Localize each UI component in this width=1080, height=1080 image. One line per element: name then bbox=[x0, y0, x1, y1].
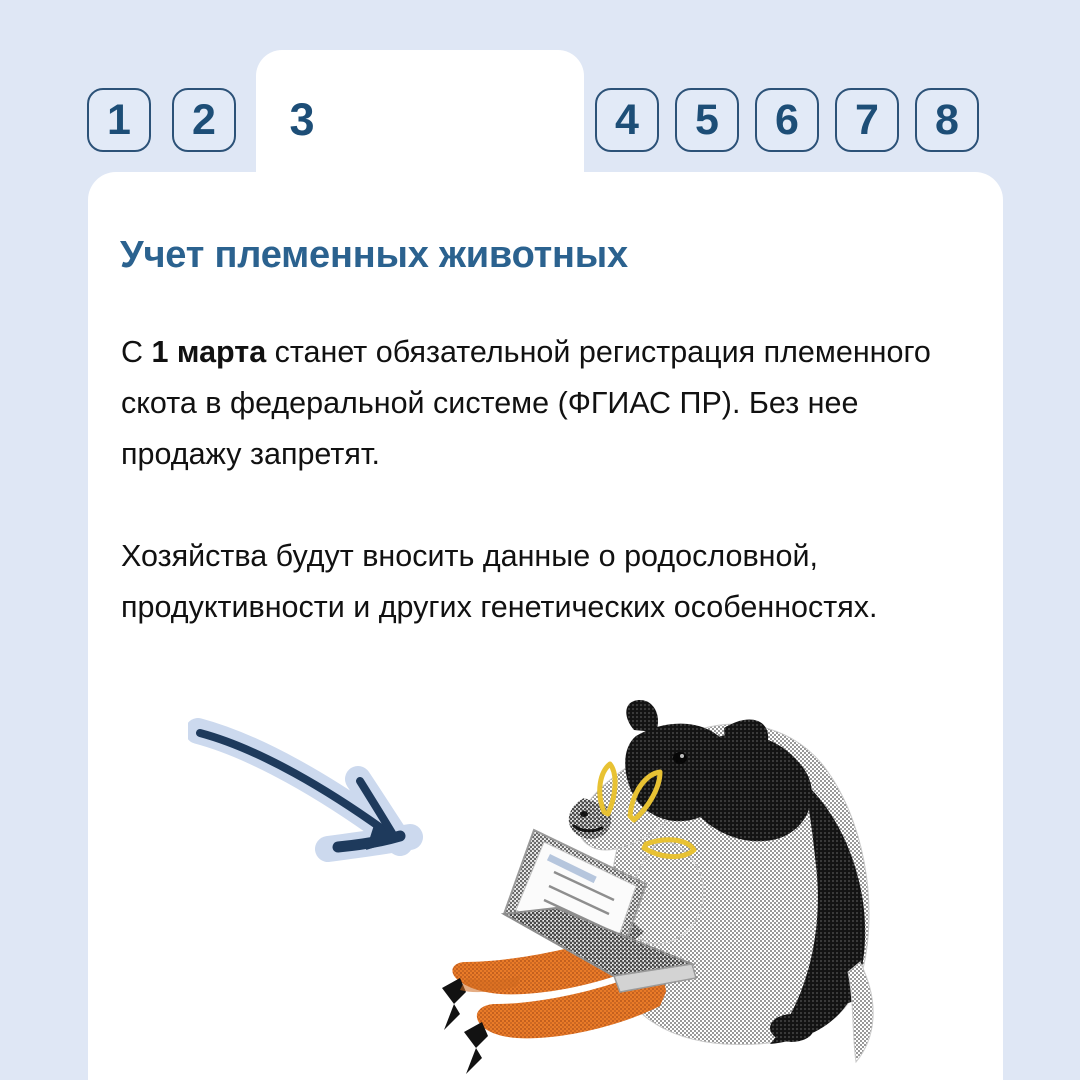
page-title: Учет племенных животных bbox=[120, 234, 628, 277]
tab-1[interactable]: 1 bbox=[87, 88, 151, 152]
paragraph-1-lead: С bbox=[121, 335, 152, 369]
cow-head bbox=[569, 700, 768, 850]
paragraph-spacer bbox=[121, 480, 966, 531]
yellow-sparkle-burst bbox=[600, 764, 694, 857]
tab-7[interactable]: 7 bbox=[835, 88, 899, 152]
tab-8[interactable]: 8 bbox=[915, 88, 979, 152]
paragraph-2: Хозяйства будут вносить данные о родосло… bbox=[121, 531, 966, 633]
curved-arrow-icon bbox=[188, 717, 458, 887]
tab-4[interactable]: 4 bbox=[595, 88, 659, 152]
tab-3-label[interactable]: 3 bbox=[272, 90, 332, 150]
pagination-tab-strip: 1 2 3 4 5 6 7 8 bbox=[0, 0, 1080, 172]
tab-2[interactable]: 2 bbox=[172, 88, 236, 152]
paragraph-1: С 1 марта станет обязательной регистраци… bbox=[121, 327, 966, 480]
page-root: 1 2 3 4 5 6 7 8 Учет племенных животных … bbox=[0, 0, 1080, 1080]
open-laptop-icon bbox=[504, 830, 696, 992]
content-card: Учет племенных животных С 1 марта станет… bbox=[88, 172, 1003, 1080]
halftone-cow-with-laptop-illustration bbox=[408, 632, 908, 1080]
body-copy: С 1 марта станет обязательной регистраци… bbox=[121, 327, 966, 633]
tab-5[interactable]: 5 bbox=[675, 88, 739, 152]
cow-arms bbox=[579, 842, 704, 954]
tab-6[interactable]: 6 bbox=[755, 88, 819, 152]
cow-body bbox=[609, 724, 873, 1062]
paragraph-1-bold-date: 1 марта bbox=[152, 335, 267, 369]
orange-boots bbox=[442, 936, 666, 1074]
